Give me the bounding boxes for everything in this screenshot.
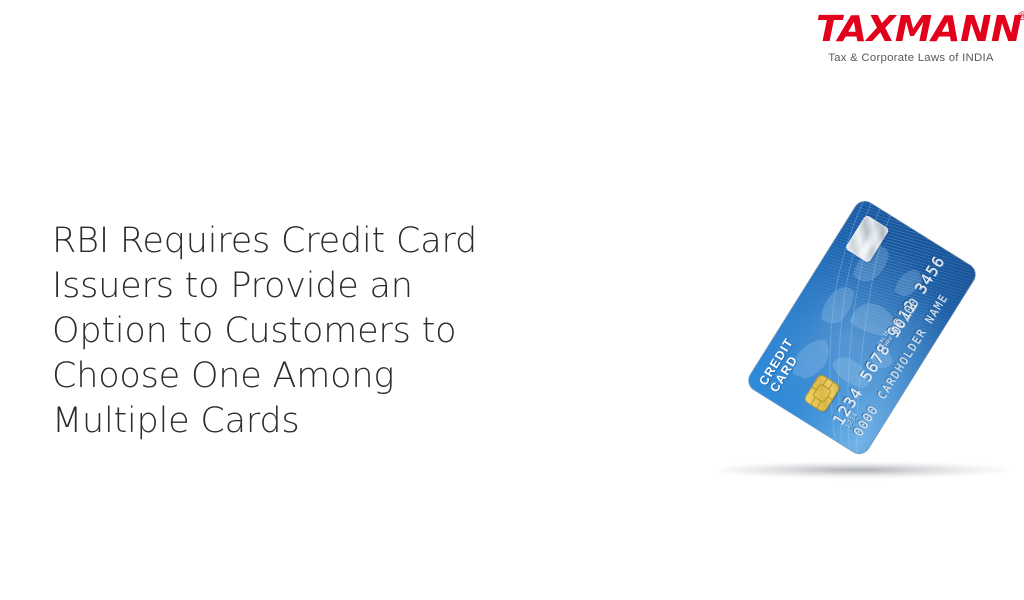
headline-line-5: Multiple Cards [52,399,572,444]
headline-line-1: RBI Requires Credit Card [52,219,572,264]
credit-card-wrap: CREDIT CARD 1234 5678 9012 3456 [700,190,1024,490]
headline-line-3: Option to Customers to [52,309,572,354]
logo-tagline: Tax & Corporate Laws of INDIA [816,52,1006,64]
logo-wordmark-wrap: TAXMANN ® [816,12,1014,48]
headline-line-4: Choose One Among [52,354,572,399]
banner-canvas: TAXMANN ® Tax & Corporate Laws of INDIA … [0,0,1024,600]
credit-card-face: CREDIT CARD 1234 5678 9012 3456 [745,197,979,457]
registered-trademark-icon: ® [1018,10,1024,22]
logo-wordmark: TAXMANN [816,12,1022,48]
headline: RBI Requires Credit Card Issuers to Prov… [52,219,572,444]
credit-card-illustration: CREDITCARD 1234 5678 9012 3 [700,190,1024,580]
taxmann-logo: TAXMANN ® Tax & Corporate Laws of INDIA [816,12,1006,64]
headline-line-2: Issuers to Provide an [52,264,572,309]
